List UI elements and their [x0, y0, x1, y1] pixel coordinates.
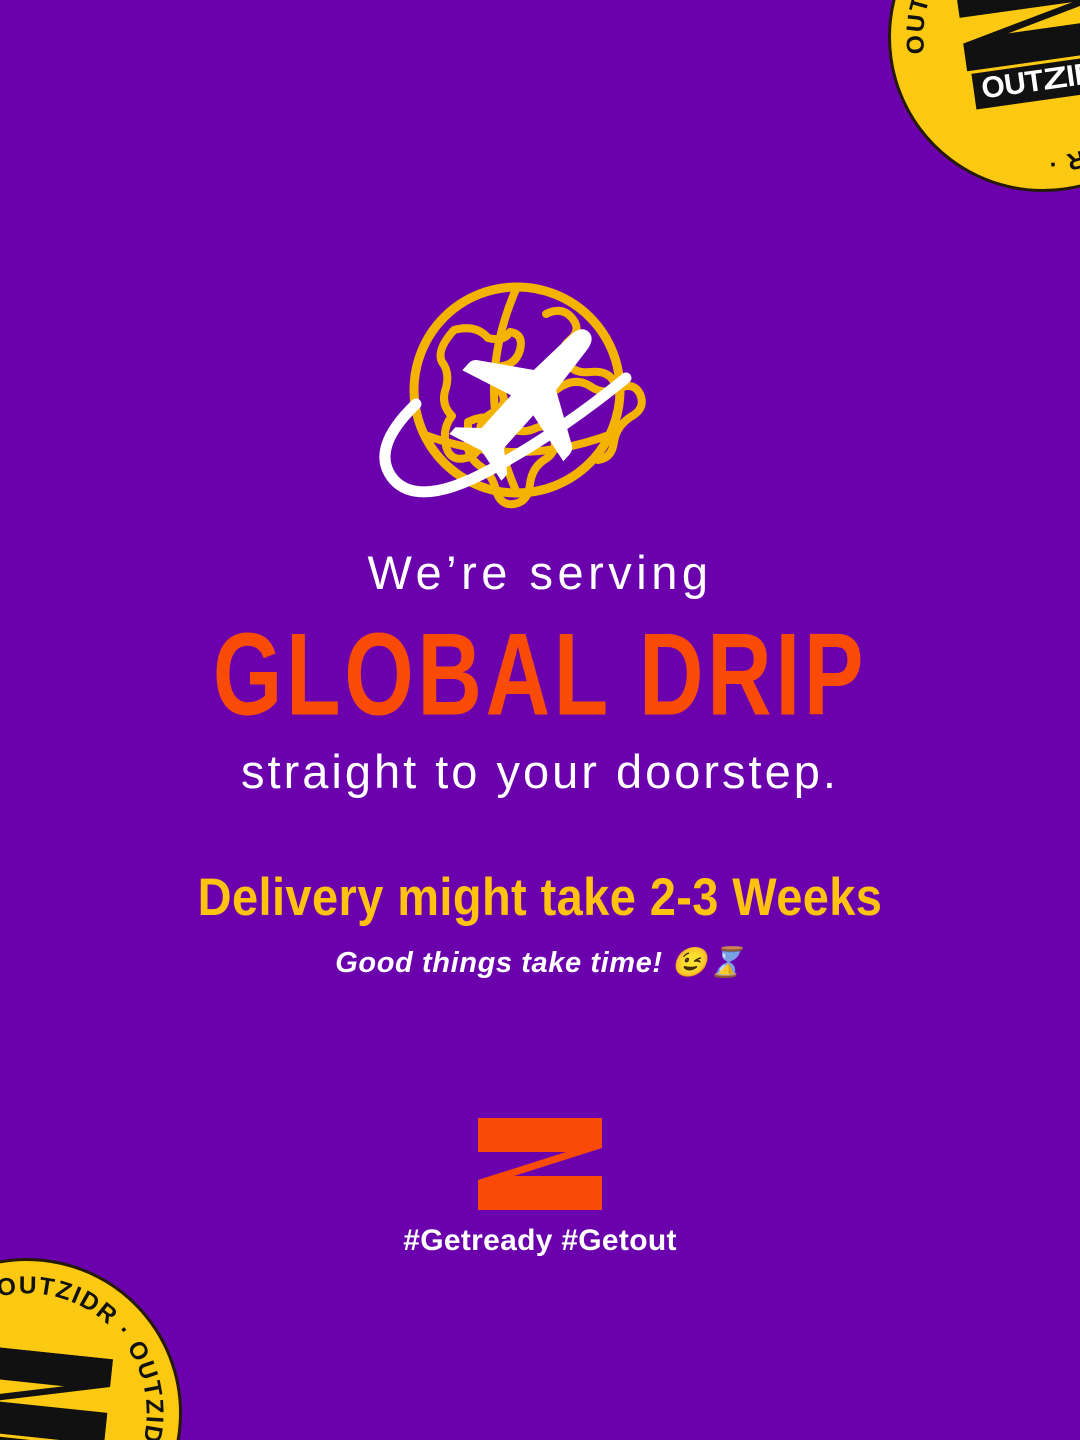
globe-icon [350, 272, 730, 522]
footer-tagline: #Getready #Getout [403, 1224, 677, 1258]
brand-sticker-bottom-left: OUTZIDR · OUTZIDR · OUTZIDR · OUTZIDR · … [0, 1243, 197, 1440]
delivery-notice: Delivery might take 2-3 Weeks [0, 865, 1080, 927]
globe-airplane-artwork [350, 272, 730, 522]
sticker-z-logo-bl [0, 1342, 113, 1440]
headline-line-3: straight to your doorstep. [0, 747, 1080, 796]
sticker-wordmark-z: Z [1042, 63, 1069, 96]
brand-z-logo [478, 1118, 602, 1210]
sticker-wordmark-pre: OUT [980, 66, 1045, 104]
headline-block: We’re serving GLOBAL DRIP straight to yo… [0, 548, 1080, 980]
poster-canvas: We’re serving GLOBAL DRIP straight to yo… [0, 0, 1080, 1440]
footer-block: #Getready #Getout [0, 1118, 1080, 1258]
sticker-core-tr: OUT Z IDR [947, 0, 1080, 111]
z-logo-icon [478, 1118, 602, 1210]
headline-line-1: We’re serving [0, 548, 1080, 597]
delivery-subnote: Good things take time! 😉⌛ [0, 946, 1080, 980]
brand-sticker-top-right: OUTZIDR · OUTZIDR · OUTZIDR · OUTZIDR · … [868, 0, 1080, 212]
headline-line-2: GLOBAL DRIP [38, 617, 1042, 734]
z-logo-icon [0, 1342, 113, 1440]
